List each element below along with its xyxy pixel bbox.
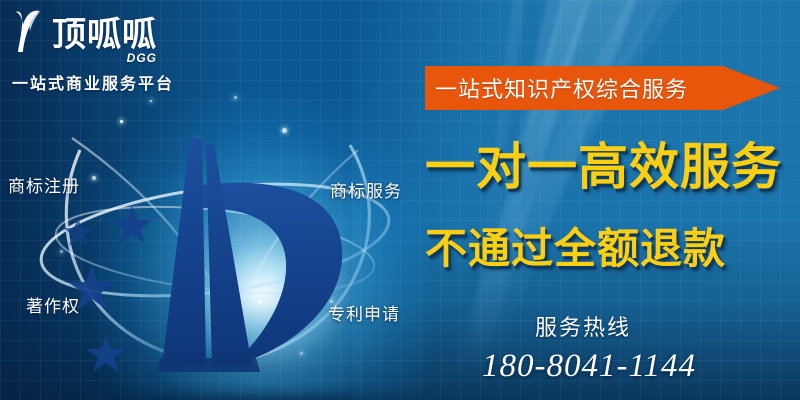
hotline-number[interactable]: 180-8041-1144: [482, 348, 696, 385]
promo-content: 一站式知识产权综合服务 一对一高效服务 不通过全额退款 服务热线 180-804…: [425, 0, 800, 400]
ip-monogram-emblem: [20, 90, 420, 380]
letter-i-spire-left: [162, 138, 206, 366]
hotline-label: 服务热线: [535, 310, 631, 342]
emblem-base: [156, 358, 260, 372]
brand-tagline: 一站式商业服务平台: [12, 70, 302, 94]
headline-primary: 一对一高效服务: [425, 142, 782, 192]
service-label-trademark-service: 商标服务: [330, 177, 402, 202]
star-icons: [63, 206, 152, 372]
service-label-trademark-registration: 商标注册: [8, 172, 80, 197]
brand-name: 顶呱呱: [52, 18, 157, 52]
brand-name-latin: DGG: [127, 51, 157, 65]
dgg-leaf-logo-icon: [12, 8, 46, 54]
brand-logo[interactable]: 顶呱呱 DGG 一站式商业服务平台: [12, 8, 302, 94]
promo-ribbon: 一站式知识产权综合服务: [425, 66, 780, 110]
headline-secondary: 不通过全额退款: [425, 228, 726, 270]
letter-i-spire-right: [206, 144, 252, 366]
service-label-patent-application: 专利申请: [328, 300, 400, 325]
promotional-banner: 顶呱呱 DGG 一站式商业服务平台 商标注册 著作权 商标服务 专利申请 一站式…: [0, 0, 800, 400]
service-label-copyright: 著作权: [26, 292, 80, 317]
